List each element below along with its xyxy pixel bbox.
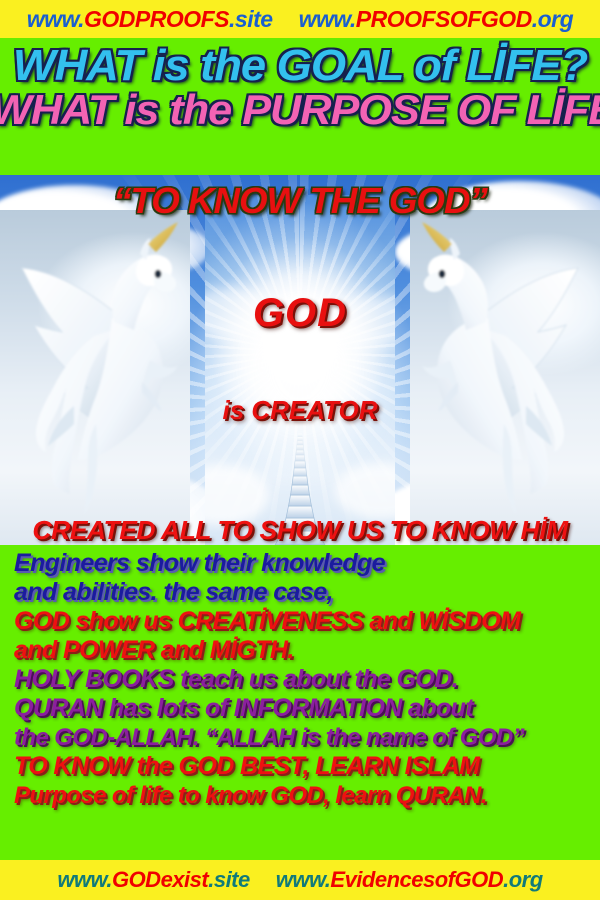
copy-line: TO KNOW the GOD BEST, LEARN ISLAM [14, 752, 596, 781]
pegasus-image-right [410, 210, 600, 545]
url-prefix: www. [299, 6, 356, 32]
url-tld: .site [208, 867, 250, 892]
url-domain: GODPROOFS [84, 6, 229, 32]
god-word: GOD [205, 291, 395, 336]
url-prefix: www. [276, 867, 331, 892]
bottom-url-banner: www.GODexist.site www.EvidencesofGOD.org [0, 860, 600, 900]
url-tld: .site [229, 6, 273, 32]
pegasus-image-left [0, 210, 190, 545]
url-domain: GODexist [112, 867, 208, 892]
copy-line: and POWER and MİGTH. [14, 636, 596, 665]
headline-goal-of-life: WHAT is the GOAL of LİFE? [0, 44, 600, 87]
pegasus-icon [410, 210, 600, 545]
url-domain: PROOFSOFGOD [356, 6, 532, 32]
url-prefix: www. [27, 6, 84, 32]
bottom-link-evidencesofgod[interactable]: www.EvidencesofGOD.org [276, 869, 543, 891]
top-link-proofsofgod[interactable]: www.PROOFSOFGOD.org [299, 8, 574, 31]
url-prefix: www. [57, 867, 112, 892]
copy-line: the GOD-ALLAH. “ALLAH is the name of GOD… [14, 723, 596, 752]
stairway-image-center: GOD is CREATOR [205, 195, 395, 545]
copy-line: GOD show us CREATİVENESS and WİSDOM [14, 607, 596, 636]
poster-canvas: www.GODPROOFS.site www.PROOFSOFGOD.org W… [0, 0, 600, 900]
url-domain: EvidencesofGOD [330, 867, 503, 892]
url-tld: .org [503, 867, 543, 892]
url-tld: .org [532, 6, 573, 32]
headline-block: WHAT is the GOAL of LİFE? WHAT is the PU… [0, 44, 600, 130]
body-copy-block: Engineers show their knowledge and abili… [14, 549, 596, 810]
copy-line: Engineers show their knowledge [14, 549, 596, 578]
headline-answer-to-know-the-god: “TO KNOW THE GOD” [0, 180, 600, 222]
headline-purpose-of-life: WHAT is the PURPOSE OF LİFE? [0, 89, 600, 130]
bottom-link-godexist[interactable]: www.GODexist.site [57, 869, 249, 891]
top-url-banner: www.GODPROOFS.site www.PROOFSOFGOD.org [0, 0, 600, 38]
copy-line: HOLY BOOKS teach us about the GOD. [14, 665, 596, 694]
stairway-icon [205, 195, 395, 545]
pegasus-icon [0, 210, 190, 545]
created-all-line: CREATED ALL TO SHOW US TO KNOW HİM [0, 515, 600, 546]
is-creator-word: is CREATOR [205, 395, 395, 426]
copy-line: and abilities. the same case, [14, 578, 596, 607]
sky-collage: GOD is CREATOR [0, 175, 600, 545]
copy-line: QURAN has lots of INFORMATION about [14, 694, 596, 723]
copy-line: Purpose of life to know GOD, learn QURAN… [14, 781, 596, 810]
top-link-godproofs[interactable]: www.GODPROOFS.site [27, 8, 273, 31]
